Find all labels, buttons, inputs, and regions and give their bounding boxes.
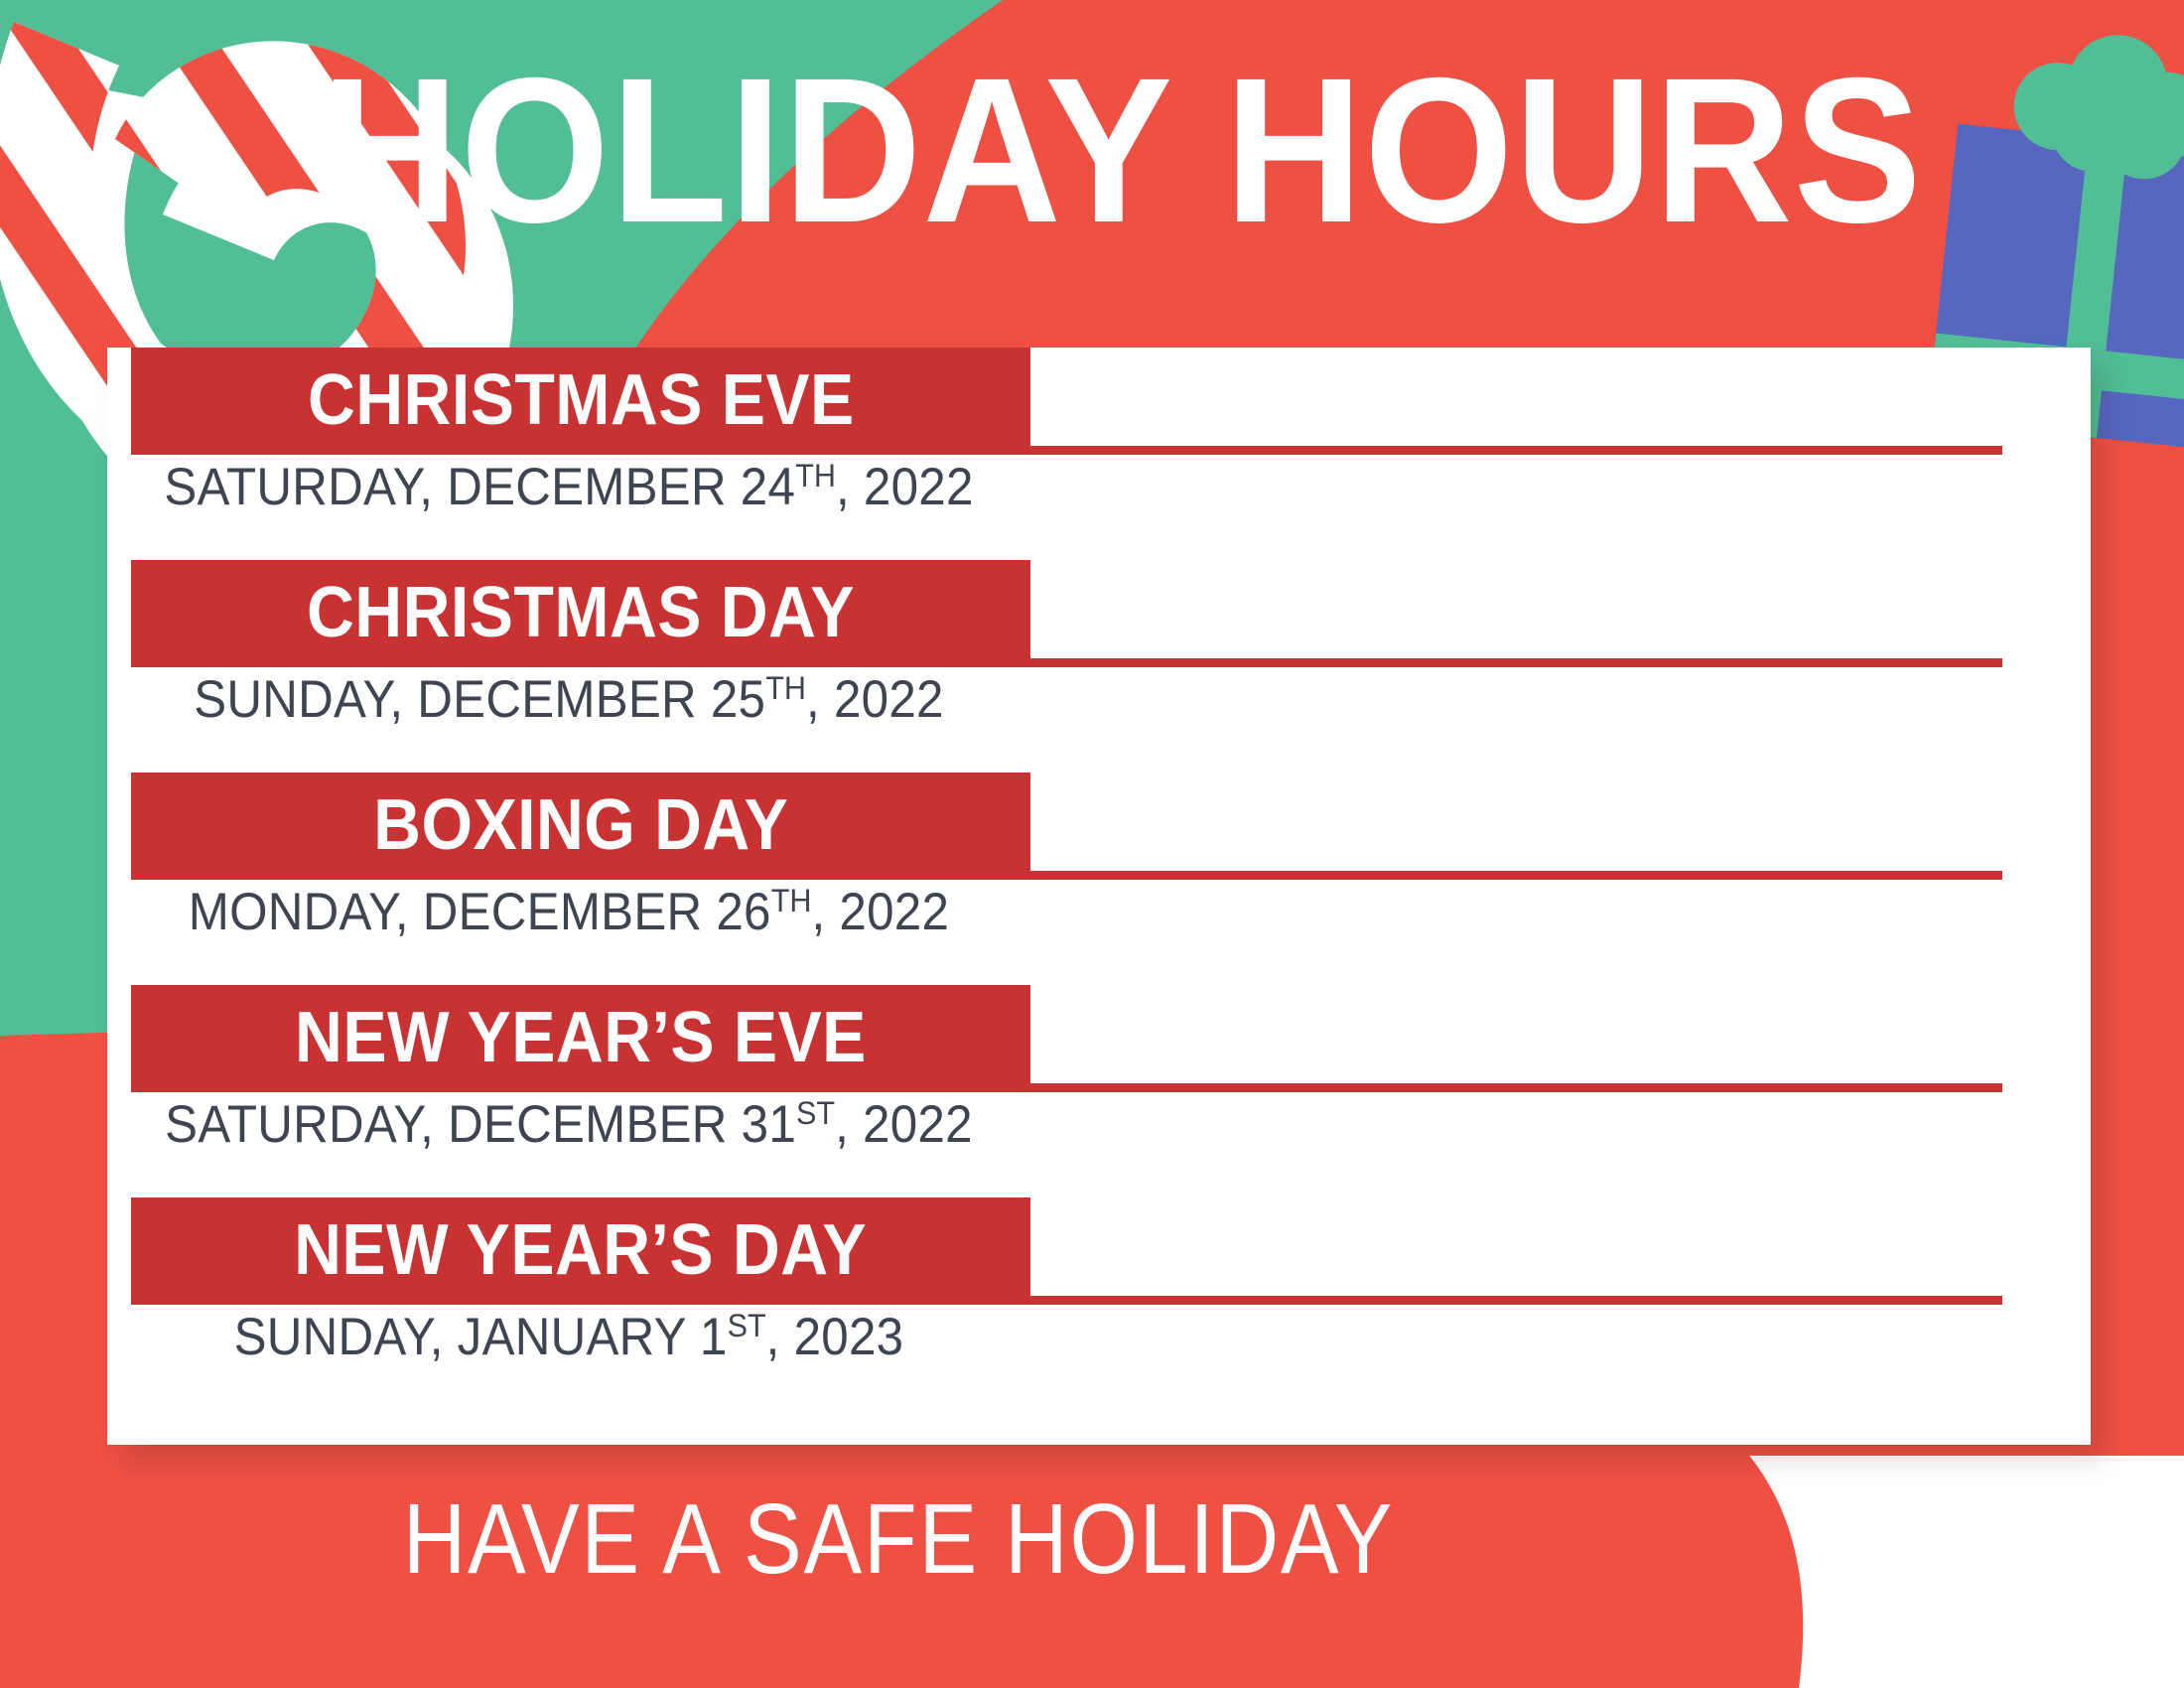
holiday-date-ordinal: ST [796, 1094, 835, 1131]
holiday-date-year: , 2022 [836, 458, 974, 516]
hours-list: CHRISTMAS EVE SATURDAY, DECEMBER 24TH, 2… [107, 348, 2091, 1416]
holiday-date-weekday: SUNDAY, JANUARY 1 [234, 1308, 728, 1366]
holiday-hours-poster: HOLIDAY HOURS CHRISTMAS EVE SATURDAY, DE… [0, 0, 2184, 1688]
holiday-date-weekday: SATURDAY, DECEMBER 31 [165, 1095, 796, 1154]
holiday-date: SUNDAY, JANUARY 1ST, 2023 [140, 1307, 999, 1367]
holiday-date: SUNDAY, DECEMBER 25TH, 2022 [140, 669, 999, 730]
holiday-name-label: CHRISTMAS EVE [308, 364, 855, 436]
holiday-name-band: NEW YEAR’S DAY [131, 1197, 1030, 1302]
holiday-date-weekday: MONDAY, DECEMBER 26 [189, 883, 771, 941]
page-title: HOLIDAY HOURS [76, 48, 2108, 254]
holiday-name-label: NEW YEAR’S DAY [295, 1214, 868, 1286]
hours-row: CHRISTMAS EVE SATURDAY, DECEMBER 24TH, 2… [107, 348, 2091, 560]
holiday-date: MONDAY, DECEMBER 26TH, 2022 [140, 882, 999, 942]
holiday-date-year: , 2023 [766, 1308, 904, 1366]
holiday-date-ordinal: TH [765, 669, 806, 706]
hours-row: CHRISTMAS DAY SUNDAY, DECEMBER 25TH, 202… [107, 560, 2091, 773]
hours-row: NEW YEAR’S EVE SATURDAY, DECEMBER 31ST, … [107, 985, 2091, 1197]
holiday-name-label: NEW YEAR’S EVE [295, 1002, 867, 1073]
footer-message: HAVE A SAFE HOLIDAY [108, 1489, 1690, 1589]
holiday-date-weekday: SUNDAY, DECEMBER 25 [194, 670, 765, 729]
hours-row: NEW YEAR’S DAY SUNDAY, JANUARY 1ST, 2023 [107, 1197, 2091, 1416]
holiday-date: SATURDAY, DECEMBER 24TH, 2022 [140, 457, 999, 517]
holiday-date: SATURDAY, DECEMBER 31ST, 2022 [140, 1094, 999, 1155]
holiday-date-year: , 2022 [811, 883, 949, 941]
holiday-date-ordinal: TH [771, 882, 812, 918]
holiday-name-label: CHRISTMAS DAY [307, 577, 855, 648]
holiday-name-band: NEW YEAR’S EVE [131, 985, 1030, 1089]
holiday-date-year: , 2022 [806, 670, 944, 729]
holiday-date-ordinal: TH [795, 457, 836, 493]
holiday-date-weekday: SATURDAY, DECEMBER 24 [164, 458, 795, 516]
holiday-name-band: CHRISTMAS EVE [131, 348, 1030, 452]
holiday-date-ordinal: ST [728, 1307, 766, 1343]
hours-row: BOXING DAY MONDAY, DECEMBER 26TH, 2022 [107, 773, 2091, 985]
holiday-name-label: BOXING DAY [373, 789, 788, 861]
holiday-date-year: , 2022 [835, 1095, 973, 1154]
hours-card: CHRISTMAS EVE SATURDAY, DECEMBER 24TH, 2… [107, 348, 2091, 1445]
holiday-name-band: BOXING DAY [131, 773, 1030, 877]
holiday-name-band: CHRISTMAS DAY [131, 560, 1030, 664]
